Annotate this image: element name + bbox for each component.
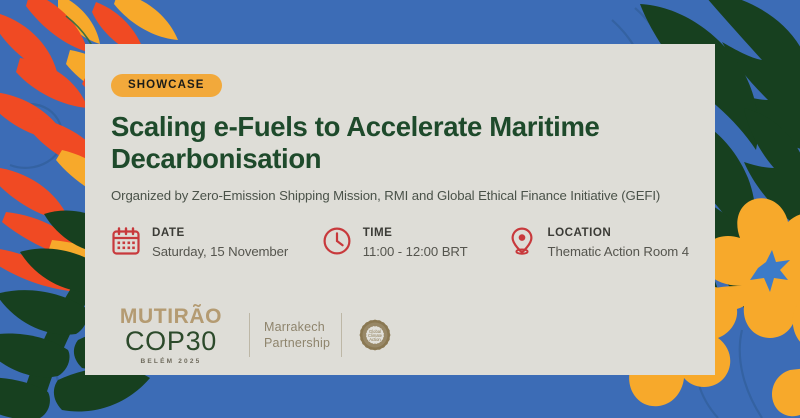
map-pin-icon <box>507 226 537 256</box>
logo-strip: MUTIRÃO COP30 BELÉM 2025 Marrakech Partn… <box>111 306 399 365</box>
detail-date: DATE Saturday, 15 November <box>111 225 322 258</box>
cop30-location-text: BELÉM 2025 <box>111 358 231 365</box>
marrakech-line-2: Partnership <box>264 335 330 352</box>
detail-label: TIME <box>363 226 468 240</box>
page-title: Scaling e-Fuels to Accelerate Maritime D… <box>111 111 689 175</box>
event-card: SHOWCASE Scaling e-Fuels to Accelerate M… <box>85 44 715 375</box>
cop30-name-text: COP30 <box>111 327 231 356</box>
seal-text-3: Action <box>369 337 381 342</box>
detail-location: LOCATION Thematic Action Room 4 <box>507 225 689 258</box>
detail-label: DATE <box>152 226 288 240</box>
status-badge: SHOWCASE <box>111 74 222 97</box>
event-details-row: DATE Saturday, 15 November TIME 11:00 - … <box>111 225 689 258</box>
global-climate-action-seal: Global Climate Action <box>351 311 399 359</box>
detail-value: 11:00 - 12:00 BRT <box>363 244 468 259</box>
detail-value: Thematic Action Room 4 <box>548 244 689 259</box>
detail-time: TIME 11:00 - 12:00 BRT <box>322 225 507 258</box>
detail-label: LOCATION <box>548 226 689 240</box>
organizer-text: Organized by Zero-Emission Shipping Miss… <box>111 188 689 203</box>
cop30-logo: MUTIRÃO COP30 BELÉM 2025 <box>111 306 231 365</box>
clock-icon <box>322 226 352 256</box>
calendar-icon <box>111 226 141 256</box>
detail-value: Saturday, 15 November <box>152 244 288 259</box>
marrakech-line-1: Marrakech <box>264 319 330 336</box>
logo-divider <box>249 313 250 357</box>
marrakech-partnership-logo: Marrakech Partnership <box>264 319 330 352</box>
cop30-mutirao-text: MUTIRÃO <box>111 306 231 327</box>
seal-divider <box>341 313 342 357</box>
